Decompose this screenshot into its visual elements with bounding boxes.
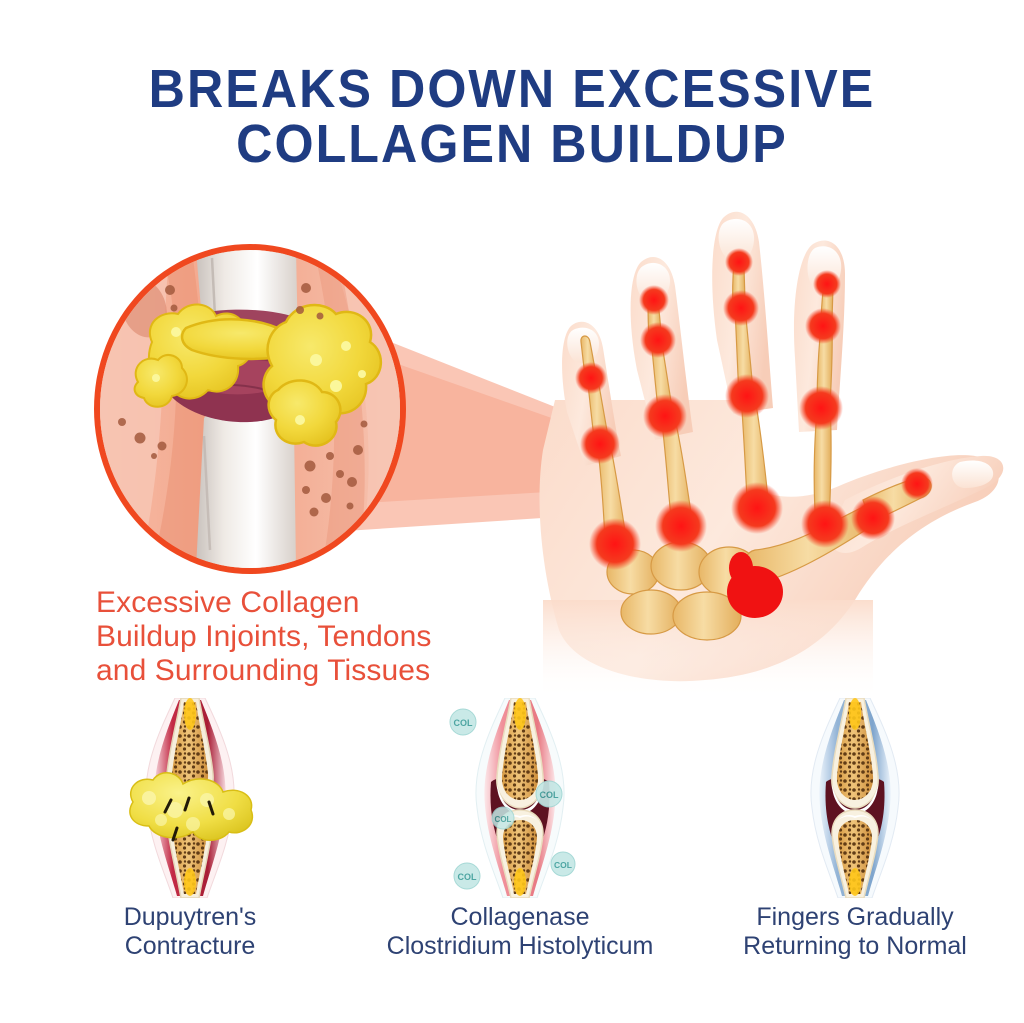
- panel-caption-fingers-normal: Fingers Gradually Returning to Normal: [690, 903, 1020, 961]
- title-line-2: COLLAGEN BUILDUP: [36, 117, 988, 172]
- panel-caption-collagenase: Collagenase Clostridium Histolyticum: [355, 903, 685, 961]
- red-caption-line-1: Excessive Collagen: [96, 586, 536, 620]
- panel-fingers-returning-normal: Fingers Gradually Returning to Normal: [690, 698, 1020, 998]
- caption-line-2: Returning to Normal: [690, 932, 1020, 961]
- excessive-collagen-caption: Excessive Collagen Buildup Injoints, Ten…: [96, 586, 536, 688]
- panel-caption-dupuytrens: Dupuytren's Contracture: [25, 903, 355, 961]
- caption-line-2: Clostridium Histolyticum: [355, 932, 685, 961]
- caption-line-1: Collagenase: [355, 903, 685, 932]
- joint-diagram-treatment: [445, 698, 595, 898]
- title-line-1: BREAKS DOWN EXCESSIVE: [36, 62, 988, 117]
- caption-line-2: Contracture: [25, 932, 355, 961]
- caption-line-1: Dupuytren's: [25, 903, 355, 932]
- magnified-joint-circle: [94, 244, 406, 574]
- panel-collagenase-treatment: COL COL COL COL COL: [355, 698, 685, 998]
- joint-diagram-healthy: [780, 698, 930, 898]
- infographic-canvas: BREAKS DOWN EXCESSIVE COLLAGEN BUILDUP: [0, 0, 1024, 1023]
- magnified-joint-artwork: [100, 250, 400, 568]
- joint-stage-panels: Dupuytren's Contracture: [0, 698, 1024, 998]
- red-caption-line-3: and Surrounding Tissues: [96, 654, 536, 688]
- joint-diagram-diseased: [115, 698, 265, 898]
- red-caption-line-2: Buildup Injoints, Tendons: [96, 620, 536, 654]
- panel-dupuytrens-contracture: Dupuytren's Contracture: [25, 698, 355, 998]
- page-title: BREAKS DOWN EXCESSIVE COLLAGEN BUILDUP: [0, 62, 1024, 172]
- hand-skeleton-illustration: [455, 200, 1015, 700]
- caption-line-1: Fingers Gradually: [690, 903, 1020, 932]
